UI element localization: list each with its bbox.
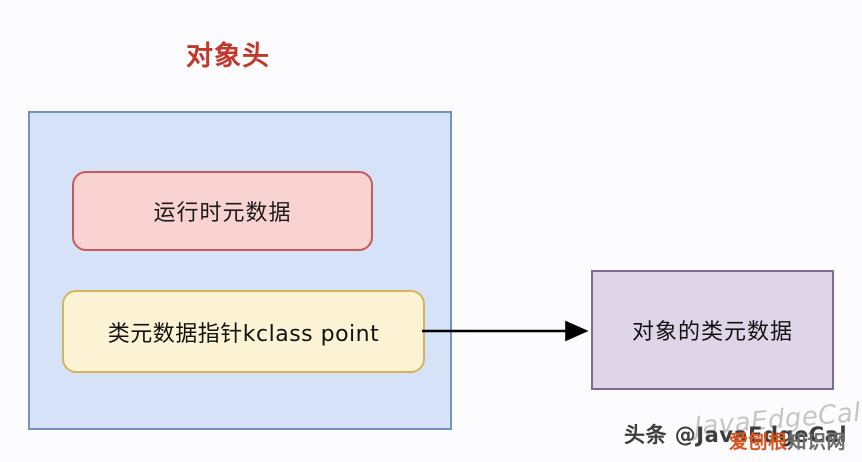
diagram-canvas: 对象头 运行时元数据 类元数据指针kclass point 对象的类元数据 Ja… [0, 0, 862, 462]
node-runtime-metadata: 运行时元数据 [72, 171, 373, 251]
node-kclass-pointer-label: 类元数据指针kclass point [108, 316, 379, 348]
node-runtime-metadata-label: 运行时元数据 [153, 195, 291, 227]
node-class-metadata-label: 对象的类元数据 [632, 314, 793, 346]
watermark-site-brand: 爱刨根 [729, 431, 788, 453]
node-kclass-pointer: 类元数据指针kclass point [62, 290, 425, 373]
node-class-metadata: 对象的类元数据 [591, 270, 834, 390]
arrow-kclass-pointer-to-class-metadata [420, 315, 596, 347]
watermark-site: 爱刨根知识网 [729, 427, 846, 454]
diagram-title: 对象头 [186, 34, 270, 73]
object-header-container [28, 111, 452, 430]
watermark-site-suffix: 知识网 [788, 431, 847, 453]
